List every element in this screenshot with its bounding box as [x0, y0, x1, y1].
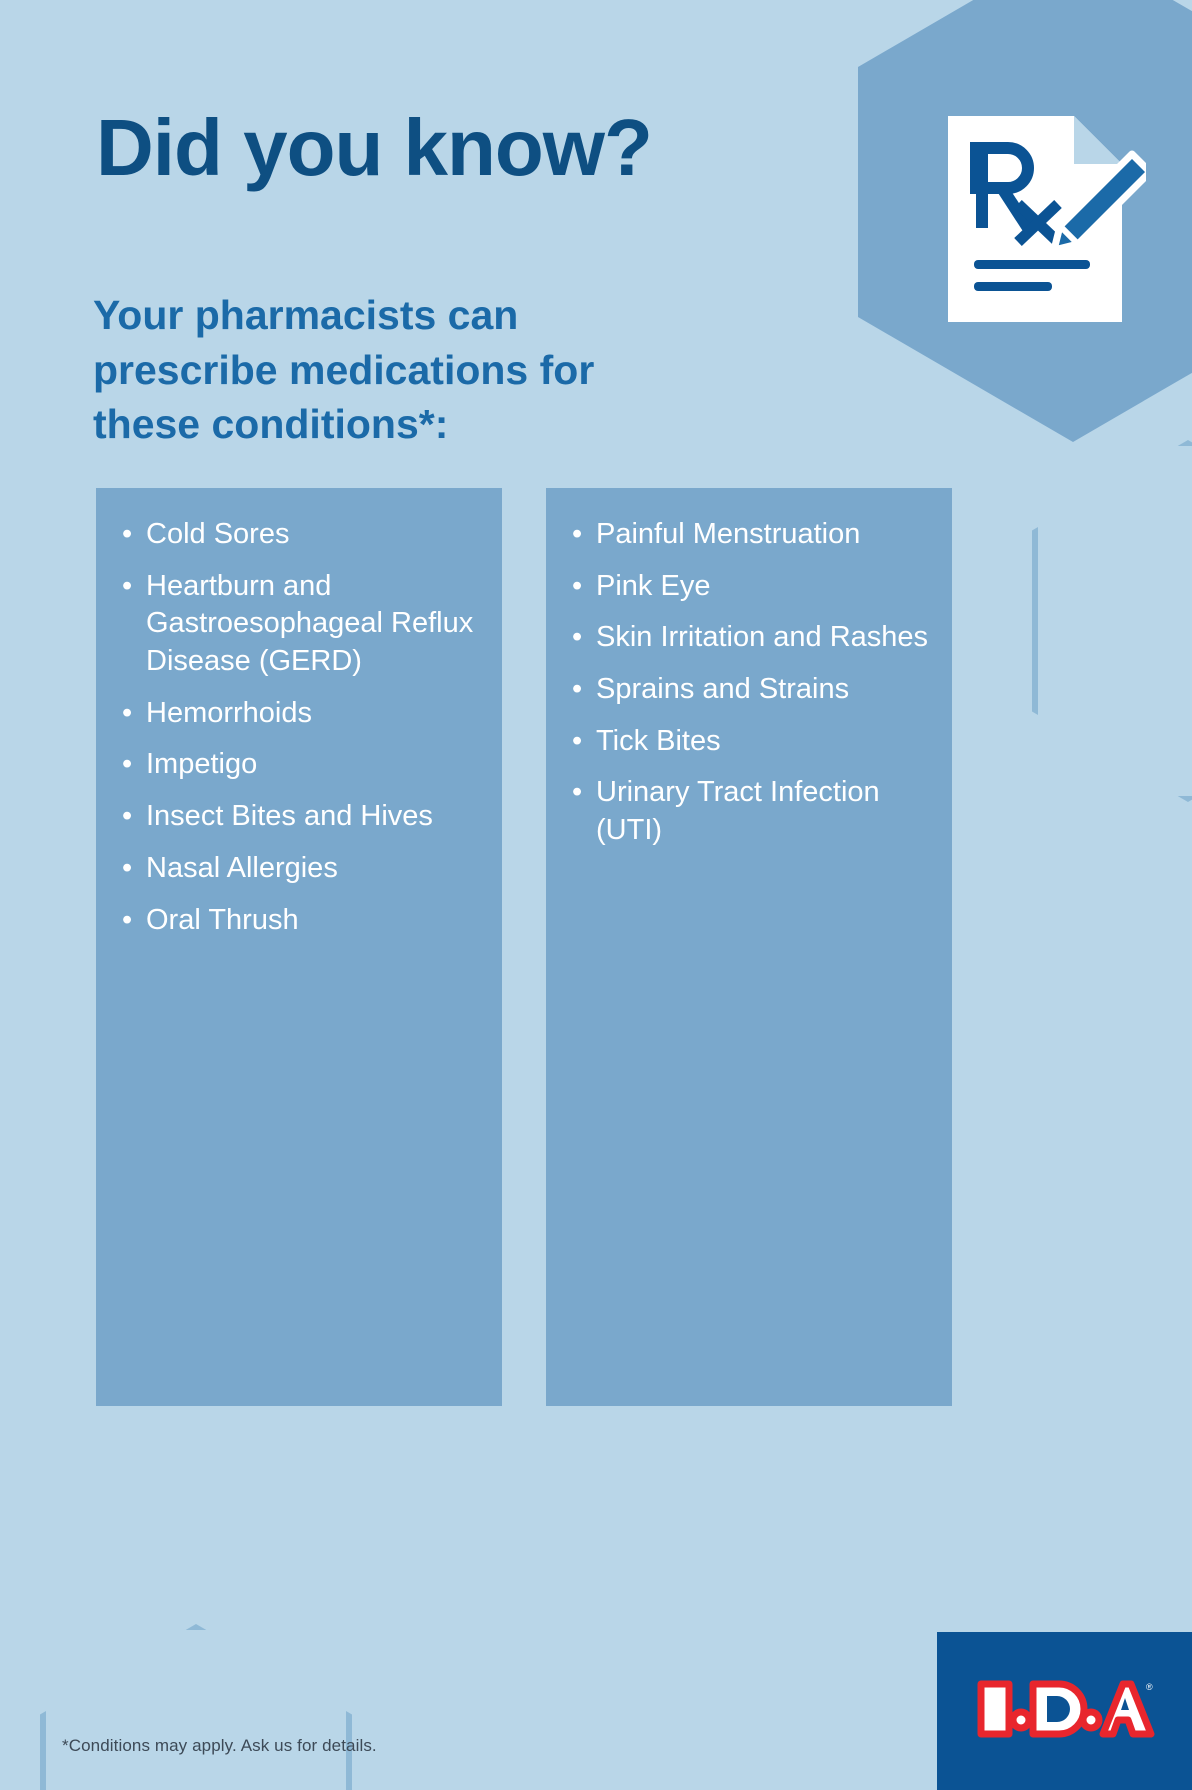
- bullet-icon: •: [122, 850, 132, 888]
- list-item-label: Nasal Allergies: [146, 852, 338, 884]
- conditions-list-right: •Painful Menstruation•Pink Eye•Skin Irri…: [564, 516, 934, 850]
- list-item: •Insect Bites and Hives: [114, 798, 484, 836]
- bullet-icon: •: [122, 568, 132, 606]
- bullet-icon: •: [572, 723, 582, 761]
- list-item-label: Insect Bites and Hives: [146, 800, 433, 832]
- list-item: •Nasal Allergies: [114, 850, 484, 888]
- list-item: •Tick Bites: [564, 723, 934, 761]
- bullet-icon: •: [572, 774, 582, 812]
- conditions-panel-left: •Cold Sores•Heartburn and Gastroesophage…: [96, 488, 502, 1406]
- bullet-icon: •: [122, 516, 132, 554]
- bullet-icon: •: [572, 568, 582, 606]
- list-item: •Sprains and Strains: [564, 671, 934, 709]
- list-item: •Heartburn and Gastroesophageal Reflux D…: [114, 568, 484, 681]
- list-item-label: Painful Menstruation: [596, 518, 860, 550]
- bullet-icon: •: [122, 798, 132, 836]
- bullet-icon: •: [572, 671, 582, 709]
- list-item-label: Tick Bites: [596, 725, 721, 757]
- list-item: •Painful Menstruation: [564, 516, 934, 554]
- poster-canvas: Did you know? Your pharmacists can presc…: [0, 0, 1192, 1790]
- registered-trademark-icon: ®: [1146, 1682, 1153, 1692]
- ida-logo-mark: ®: [975, 1670, 1155, 1748]
- list-item-label: Urinary Tract Infection (UTI): [596, 776, 880, 846]
- list-item-label: Skin Irritation and Rashes: [596, 621, 928, 653]
- list-item-label: Cold Sores: [146, 518, 289, 550]
- bullet-icon: •: [572, 619, 582, 657]
- page-title: Did you know?: [96, 108, 652, 188]
- bullet-icon: •: [122, 902, 132, 940]
- list-item-label: Sprains and Strains: [596, 673, 849, 705]
- page-subtitle: Your pharmacists can prescribe medicatio…: [93, 288, 653, 452]
- list-item-label: Hemorrhoids: [146, 697, 312, 729]
- footnote-text: *Conditions may apply. Ask us for detail…: [62, 1736, 377, 1756]
- list-item: •Cold Sores: [114, 516, 484, 554]
- list-item-label: Oral Thrush: [146, 904, 299, 936]
- list-item: •Urinary Tract Infection (UTI): [564, 774, 934, 849]
- bullet-icon: •: [122, 695, 132, 733]
- hexagon-outline-bottom-left: [40, 1624, 352, 1790]
- list-item: •Hemorrhoids: [114, 695, 484, 733]
- list-item-label: Pink Eye: [596, 570, 710, 602]
- ida-logo: ®: [937, 1632, 1192, 1790]
- list-item-label: Heartburn and Gastroesophageal Reflux Di…: [146, 570, 473, 677]
- rx-prescription-pad-icon: [936, 108, 1146, 338]
- list-item-label: Impetigo: [146, 748, 257, 780]
- list-item: •Skin Irritation and Rashes: [564, 619, 934, 657]
- list-item: •Oral Thrush: [114, 902, 484, 940]
- list-item: •Impetigo: [114, 746, 484, 784]
- conditions-list-left: •Cold Sores•Heartburn and Gastroesophage…: [114, 516, 484, 939]
- list-item: •Pink Eye: [564, 568, 934, 606]
- conditions-panel-right: •Painful Menstruation•Pink Eye•Skin Irri…: [546, 488, 952, 1406]
- bullet-icon: •: [122, 746, 132, 784]
- hexagon-outline-right: [1032, 440, 1192, 802]
- bullet-icon: •: [572, 516, 582, 554]
